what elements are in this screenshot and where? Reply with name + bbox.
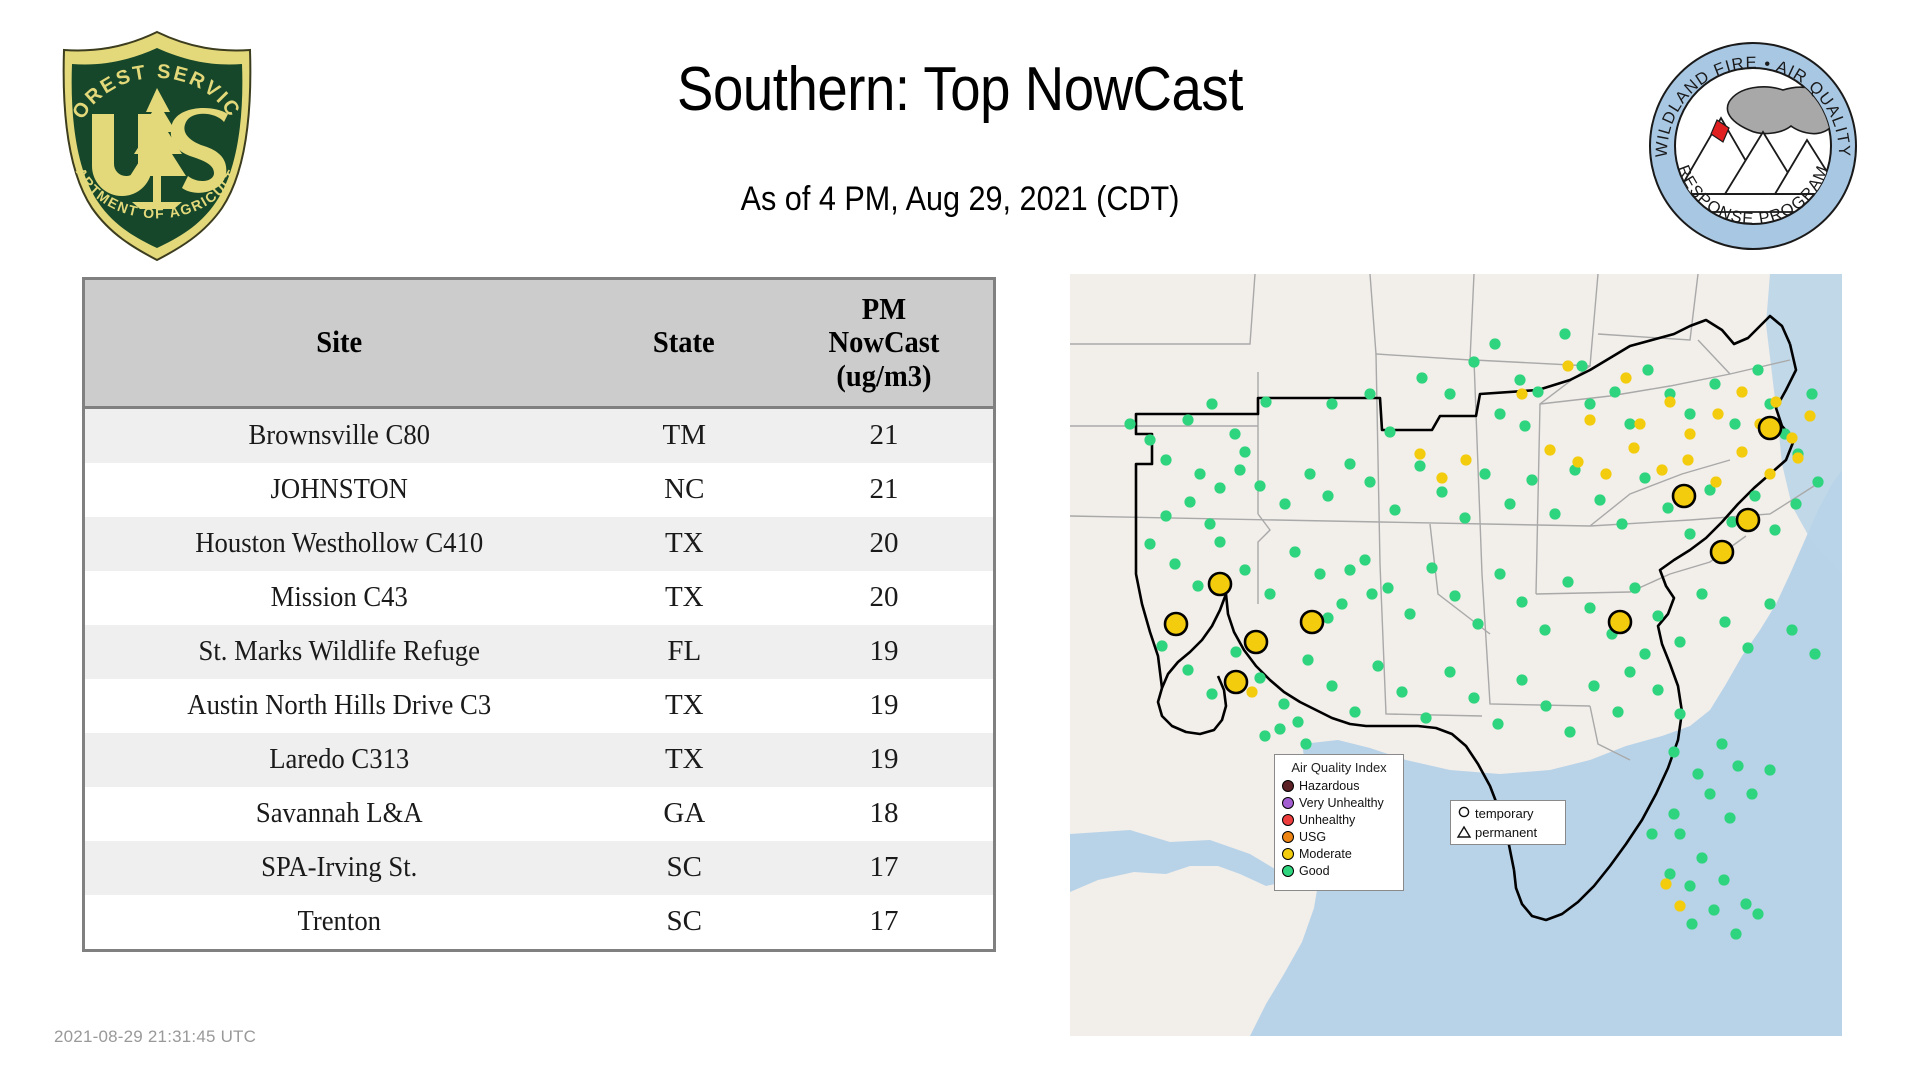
cell-state: TX [593,679,775,733]
cell-state: TX [593,571,775,625]
top-site-marker[interactable] [1209,573,1231,595]
aqi-legend-row: Moderate [1282,845,1396,862]
monitor-dot-good [1492,718,1503,729]
top-site-marker[interactable] [1609,611,1631,633]
monitor-dot-moderate [1736,386,1747,397]
monitor-dot-moderate [1634,418,1645,429]
monitor-dot-good [1254,672,1265,683]
monitor-dot-good [1594,494,1605,505]
top-site-marker[interactable] [1759,417,1781,439]
aqi-legend-label: Good [1299,864,1330,878]
cell-pm-nowcast: 17 [775,841,993,895]
monitor-dot-good [1289,546,1300,557]
monitor-dot-good [1652,684,1663,695]
monitor-dot-moderate [1712,408,1723,419]
monitor-dot-good [1624,418,1635,429]
monitor-dot-good [1494,568,1505,579]
cell-site: JOHNSTON [105,463,573,517]
table-header-row: Site State PM NowCast (ug/m3) [85,280,993,408]
aqi-map[interactable]: Air Quality Index HazardousVery Unhealth… [1070,274,1842,1036]
monitor-dot-good [1718,874,1729,885]
top-site-marker[interactable] [1301,611,1323,633]
monitor-dot-good [1576,360,1587,371]
cell-site: Mission C43 [105,571,573,625]
monitor-dot-moderate [1584,414,1595,425]
monitor-dot-moderate [1656,464,1667,475]
aqi-legend-row: Very Unhealthy [1282,794,1396,811]
cell-pm-nowcast: 17 [775,895,993,949]
monitor-dot-good [1489,338,1500,349]
monitor-dot-moderate [1414,448,1425,459]
cell-site: Brownsville C80 [105,408,573,464]
aqi-legend-swatch-icon [1282,865,1294,877]
monitor-dot-good [1344,564,1355,575]
monitor-dot-good [1326,680,1337,691]
cell-site: Austin North Hills Drive C3 [105,679,573,733]
cell-state: GA [593,787,775,841]
monitor-dot-good [1169,558,1180,569]
monitor-dot-moderate [1764,468,1775,479]
monitor-dot-good [1494,408,1505,419]
legend-label-temporary: temporary [1475,806,1534,821]
monitor-dot-moderate [1682,454,1693,465]
legend-row-temporary: temporary [1456,804,1560,823]
monitor-dot-good [1639,648,1650,659]
monitor-dot-good [1366,588,1377,599]
monitor-dot-good [1322,490,1333,501]
monitor-dot-moderate [1246,686,1257,697]
monitor-dot-good [1384,426,1395,437]
aqi-legend-swatch-icon [1282,814,1294,826]
monitor-dot-moderate [1792,452,1803,463]
monitor-dot-good [1468,692,1479,703]
aqi-legend-swatch-icon [1282,831,1294,843]
table-row: JOHNSTONNC21 [85,463,993,517]
legend-row-permanent: permanent [1456,823,1560,842]
cell-state: SC [593,841,775,895]
monitor-dot-good [1764,764,1775,775]
monitor-dot-good [1239,564,1250,575]
top-site-marker[interactable] [1225,671,1247,693]
aqi-legend-label: Unhealthy [1299,813,1355,827]
aqi-legend: Air Quality Index HazardousVery Unhealth… [1274,754,1404,891]
monitor-dot-good [1692,768,1703,779]
monitor-dot-good [1278,698,1289,709]
table-row: Houston Westhollow C410TX20 [85,517,993,571]
top-site-marker[interactable] [1711,541,1733,563]
monitor-dot-good [1192,580,1203,591]
monitor-dot-good [1414,460,1425,471]
aqi-legend-label: Very Unhealthy [1299,796,1384,810]
monitor-dot-good [1426,562,1437,573]
monitor-dot-good [1504,498,1515,509]
cell-pm-nowcast: 21 [775,463,993,517]
monitor-dot-good [1624,666,1635,677]
table-row: Brownsville C80TM21 [85,408,993,464]
cell-state: TX [593,733,775,787]
page-subtitle: As of 4 PM, Aug 29, 2021 (CDT) [96,180,1824,219]
monitor-dot-good [1229,428,1240,439]
table-row: Austin North Hills Drive C3TX19 [85,679,993,733]
aqi-legend-row: Good [1282,862,1396,879]
monitor-dot-moderate [1804,410,1815,421]
monitor-dot-good [1416,372,1427,383]
monitor-dot-moderate [1684,428,1695,439]
cell-site: Houston Westhollow C410 [105,517,573,571]
monitor-dot-moderate [1572,456,1583,467]
monitor-dot-good [1588,680,1599,691]
table-row: Mission C43TX20 [85,571,993,625]
monitor-dot-good [1156,640,1167,651]
monitor-dot-good [1539,624,1550,635]
monitor-dot-good [1372,660,1383,671]
monitor-dot-good [1214,536,1225,547]
table-row: Savannah L&AGA18 [85,787,993,841]
monitor-dot-good [1336,598,1347,609]
monitor-dot-moderate [1664,396,1675,407]
monitor-dot-good [1662,502,1673,513]
aqi-legend-row: Unhealthy [1282,811,1396,828]
monitor-dot-moderate [1628,442,1639,453]
monitor-dot-good [1204,518,1215,529]
cell-site: SPA-Irving St. [105,841,573,895]
monitor-dot-good [1639,472,1650,483]
monitor-dot-moderate [1660,878,1671,889]
monitor-dot-good [1516,596,1527,607]
monitor-dot-good [1806,388,1817,399]
monitor-dot-good [1719,616,1730,627]
top-site-marker[interactable] [1737,509,1759,531]
top-site-marker[interactable] [1245,631,1267,653]
monitor-dot-good [1449,590,1460,601]
monitor-dot-good [1444,388,1455,399]
monitor-dot-good [1214,482,1225,493]
monitor-dot-good [1234,464,1245,475]
column-header-pm-line3: (ug/m3) [787,359,980,392]
monitor-dot-good [1664,868,1675,879]
monitor-dot-good [1764,598,1775,609]
column-header-site: Site [105,280,573,408]
monitor-dot-good [1668,808,1679,819]
top-site-marker[interactable] [1165,613,1187,635]
monitor-dot-good [1642,364,1653,375]
monitor-dot-good [1254,480,1265,491]
monitor-dot-good [1674,828,1685,839]
monitor-dot-good [1609,386,1620,397]
monitor-dot-good [1344,458,1355,469]
monitor-dot-good [1730,928,1741,939]
monitor-dot-good [1514,374,1525,385]
monitor-dot-good [1459,512,1470,523]
monitor-dot-good [1444,666,1455,677]
monitor-dot-good [1144,538,1155,549]
monitor-dot-good [1206,398,1217,409]
monitor-dot-good [1564,726,1575,737]
column-header-state: State [601,280,768,408]
monitor-dot-good [1549,508,1560,519]
generated-timestamp: 2021-08-29 21:31:45 UTC [54,1027,256,1047]
monitor-dot-good [1264,588,1275,599]
page-title: Southern: Top NowCast [115,54,1805,125]
cell-site: Savannah L&A [105,787,573,841]
monitor-dot-good [1684,880,1695,891]
monitor-dot-good [1769,524,1780,535]
monitor-dot-good [1749,490,1760,501]
top-nowcast-table: Site State PM NowCast (ug/m3) Brownsvill… [82,277,996,952]
cell-site: Trenton [105,895,573,949]
monitor-dot-good [1540,700,1551,711]
cell-state: NC [593,463,775,517]
monitor-dot-moderate [1562,360,1573,371]
cell-state: SC [593,895,775,949]
monitor-dot-good [1752,908,1763,919]
monitor-dot-good [1584,398,1595,409]
monitor-dot-good [1194,468,1205,479]
monitor-dot-moderate [1436,472,1447,483]
monitor-dot-good [1716,738,1727,749]
monitor-dot-good [1686,918,1697,929]
aqi-legend-swatch-icon [1282,848,1294,860]
monitor-dot-good [1752,364,1763,375]
monitor-dot-good [1740,898,1751,909]
monitor-dot-good [1684,528,1695,539]
monitor-dot-good [1472,618,1483,629]
monitor-dot-good [1812,476,1823,487]
monitor-dot-good [1526,474,1537,485]
aqi-legend-label: Hazardous [1299,779,1359,793]
monitor-dot-good [1479,468,1490,479]
cell-pm-nowcast: 20 [775,517,993,571]
monitor-dot-good [1184,496,1195,507]
monitor-dot-good [1302,654,1313,665]
table-row: TrentonSC17 [85,895,993,949]
map-canvas[interactable] [1070,274,1842,1036]
monitor-dot-good [1742,642,1753,653]
table-row: Laredo C313TX19 [85,733,993,787]
cell-pm-nowcast: 18 [775,787,993,841]
monitor-dot-good [1389,504,1400,515]
monitor-dot-good [1519,420,1530,431]
cell-site: Laredo C313 [105,733,573,787]
monitor-dot-good [1612,706,1623,717]
legend-label-permanent: permanent [1475,825,1537,840]
cell-pm-nowcast: 19 [775,679,993,733]
monitor-dot-good [1668,746,1679,757]
monitor-dot-good [1746,788,1757,799]
monitor-dot-good [1314,568,1325,579]
monitor-dot-good [1684,408,1695,419]
monitor-dot-good [1144,434,1155,445]
monitor-dot-good [1696,852,1707,863]
monitor-dot-moderate [1620,372,1631,383]
cell-pm-nowcast: 19 [775,625,993,679]
monitor-dot-good [1292,716,1303,727]
monitor-dot-moderate [1770,396,1781,407]
monitor-dot-good [1652,610,1663,621]
column-header-pm-nowcast: PM NowCast (ug/m3) [784,280,984,408]
monitor-dot-good [1674,636,1685,647]
monitor-dot-good [1160,454,1171,465]
monitor-dot-moderate [1516,388,1527,399]
monitor-dot-good [1790,498,1801,509]
monitor-dot-good [1206,688,1217,699]
cell-state: TX [593,517,775,571]
monitor-dot-good [1300,738,1311,749]
marker-type-legend: temporary permanent [1450,800,1566,845]
column-header-pm-line1: PM [787,292,980,325]
monitor-dot-good [1616,518,1627,529]
table-row: St. Marks Wildlife RefugeFL19 [85,625,993,679]
monitor-dot-moderate [1736,446,1747,457]
monitor-dot-good [1724,812,1735,823]
cell-pm-nowcast: 21 [775,408,993,464]
monitor-dot-good [1160,510,1171,521]
monitor-dot-good [1629,582,1640,593]
monitor-dot-good [1646,828,1657,839]
monitor-dot-good [1696,588,1707,599]
monitor-dot-good [1786,624,1797,635]
aqi-legend-swatch-icon [1282,797,1294,809]
monitor-dot-good [1260,396,1271,407]
monitor-dot-good [1674,708,1685,719]
monitor-dot-good [1729,418,1740,429]
monitor-dot-good [1304,468,1315,479]
cell-state: FL [593,625,775,679]
aqi-legend-label: USG [1299,830,1326,844]
monitor-dot-good [1349,706,1360,717]
monitor-dot-good [1396,686,1407,697]
aqi-legend-title: Air Quality Index [1282,760,1396,775]
monitor-dot-good [1809,648,1820,659]
monitor-dot-good [1259,730,1270,741]
monitor-dot-good [1230,646,1241,657]
monitor-dot-good [1239,446,1250,457]
cell-site: St. Marks Wildlife Refuge [105,625,573,679]
column-header-pm-line2: NowCast [787,325,980,358]
monitor-dot-good [1274,723,1285,734]
monitor-dot-good [1704,788,1715,799]
monitor-dot-good [1326,398,1337,409]
monitor-dot-good [1359,554,1370,565]
top-site-marker[interactable] [1673,485,1695,507]
monitor-dot-good [1382,582,1393,593]
cell-state: TM [593,408,775,464]
monitor-dot-good [1182,664,1193,675]
monitor-dot-good [1516,674,1527,685]
monitor-dot-good [1562,576,1573,587]
monitor-dot-good [1468,356,1479,367]
aqi-legend-label: Moderate [1299,847,1352,861]
aqi-legend-row: Hazardous [1282,777,1396,794]
monitor-dot-moderate [1460,454,1471,465]
monitor-dot-good [1364,476,1375,487]
permanent-triangle-icon [1456,825,1472,841]
monitor-dot-good [1532,386,1543,397]
monitor-dot-good [1732,760,1743,771]
monitor-dot-moderate [1710,476,1721,487]
monitor-dot-moderate [1600,468,1611,479]
monitor-dot-good [1709,378,1720,389]
monitor-dot-moderate [1674,900,1685,911]
monitor-dot-good [1559,328,1570,339]
monitor-dot-good [1420,712,1431,723]
temporary-circle-icon [1456,806,1472,822]
monitor-dot-good [1124,418,1135,429]
monitor-dot-good [1182,414,1193,425]
aqi-legend-row: USG [1282,828,1396,845]
monitor-dot-good [1436,486,1447,497]
monitor-dot-moderate [1786,432,1797,443]
monitor-dot-good [1708,904,1719,915]
monitor-dot-good [1364,388,1375,399]
monitor-dot-good [1584,602,1595,613]
cell-pm-nowcast: 19 [775,733,993,787]
monitor-dot-moderate [1544,444,1555,455]
aqi-legend-swatch-icon [1282,780,1294,792]
table-row: SPA-Irving St.SC17 [85,841,993,895]
cell-pm-nowcast: 20 [775,571,993,625]
monitor-dot-good [1279,498,1290,509]
monitor-dot-good [1404,608,1415,619]
